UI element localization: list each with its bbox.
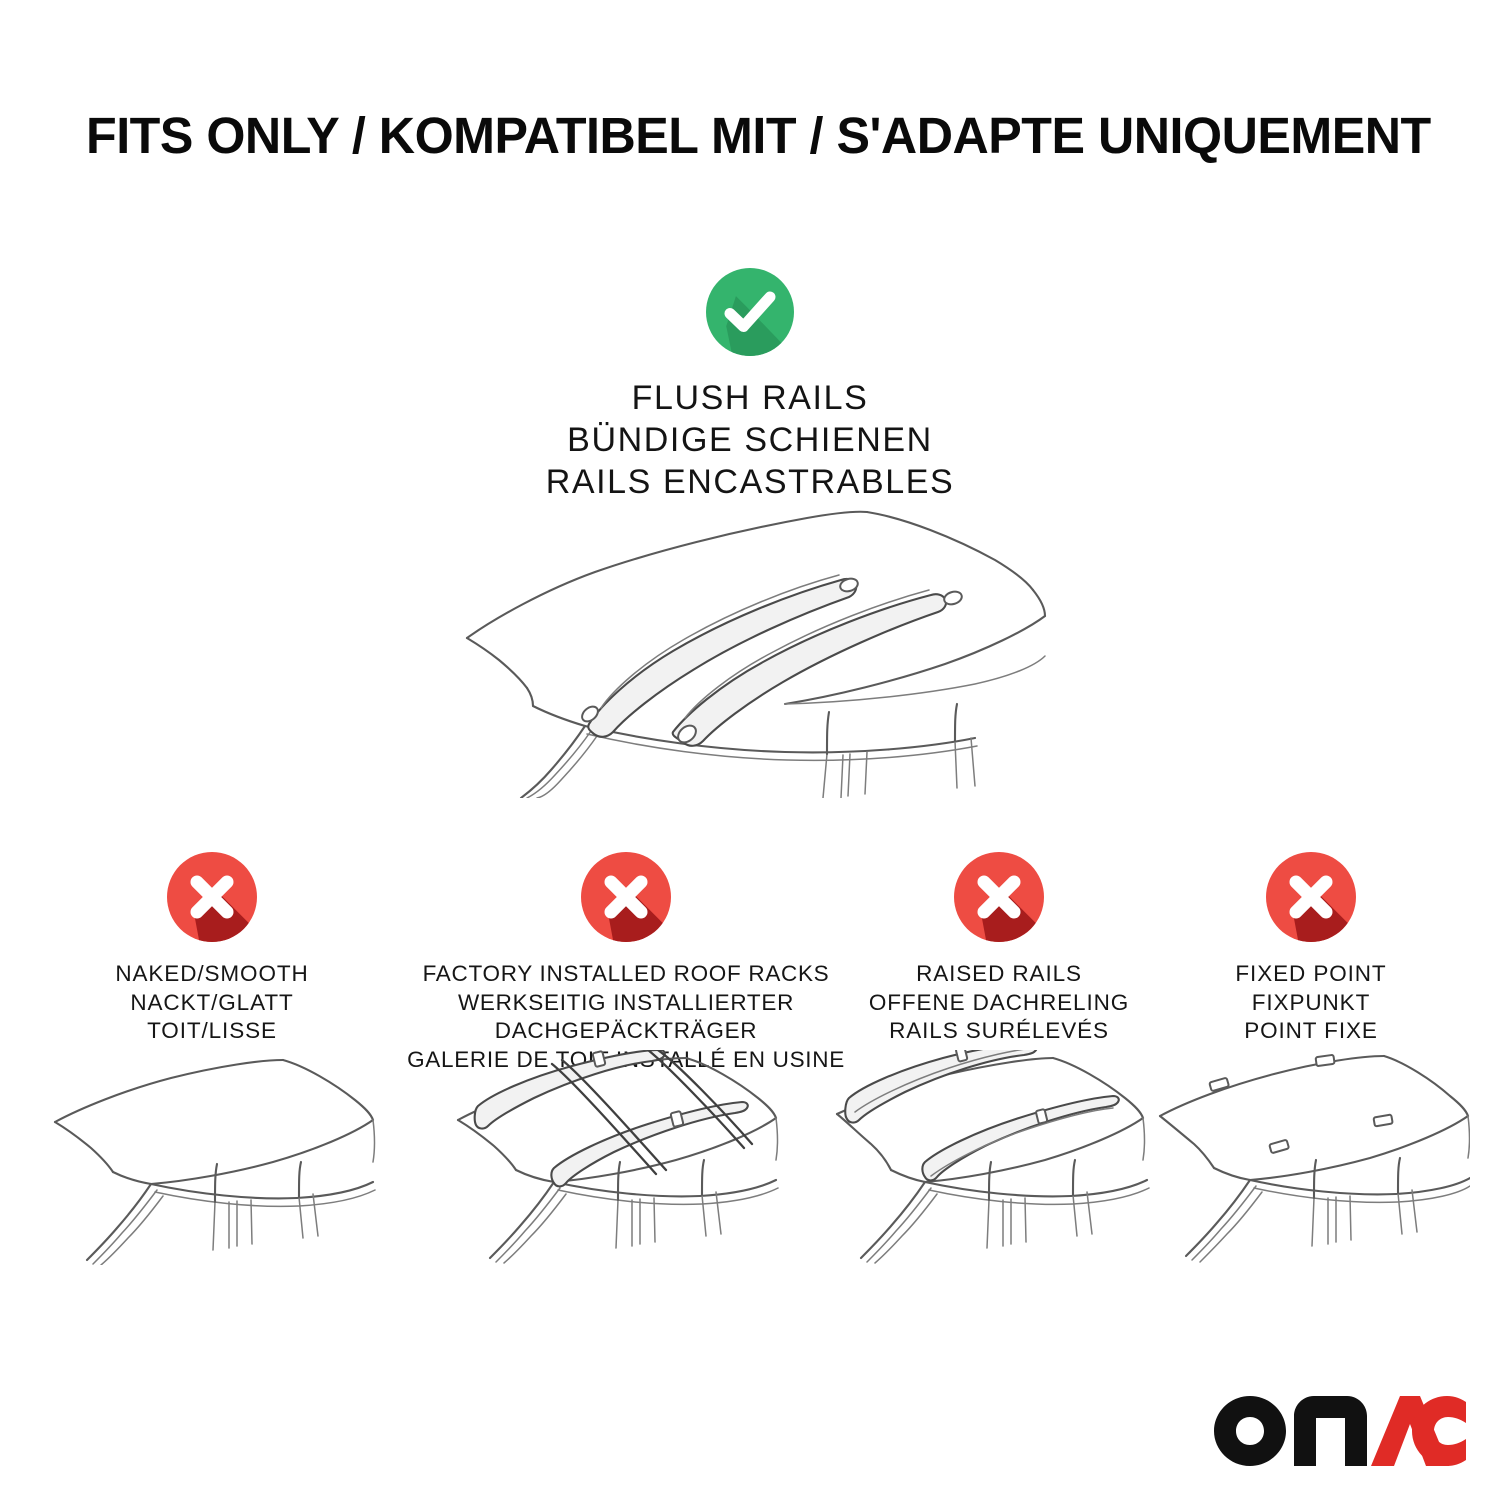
column-label-de-2: DACHGEPÄCKTRÄGER bbox=[400, 1017, 852, 1046]
column-label: RAISED RAILS OFFENE DACHRELING RAILS SUR… bbox=[840, 960, 1158, 1046]
column-label-en: RAISED RAILS bbox=[840, 960, 1158, 989]
logo-ac-red bbox=[1371, 1396, 1466, 1466]
compatible-label-fr: RAILS ENCASTRABLES bbox=[0, 461, 1500, 503]
column-label-fr: RAILS SURÉLEVÉS bbox=[840, 1017, 1158, 1046]
column-label-de: NACKT/GLATT bbox=[52, 989, 372, 1018]
flush-rails-illustration bbox=[455, 498, 1065, 798]
incompatible-column-fixed-point: FIXED POINT FIXPUNKT POINT FIXE bbox=[1160, 852, 1462, 1046]
compatible-label-en: FLUSH RAILS bbox=[0, 377, 1500, 419]
column-label-en: NAKED/SMOOTH bbox=[52, 960, 372, 989]
x-mark-glyph bbox=[581, 852, 671, 942]
compatible-section: FLUSH RAILS BÜNDIGE SCHIENEN RAILS ENCAS… bbox=[0, 268, 1500, 503]
incompatible-column-factory-roof-racks: FACTORY INSTALLED ROOF RACKS WERKSEITIG … bbox=[400, 852, 852, 1074]
x-circle-icon bbox=[167, 852, 257, 942]
page-title: FITS ONLY / KOMPATIBEL MIT / S'ADAPTE UN… bbox=[86, 108, 1406, 164]
x-mark-glyph bbox=[167, 852, 257, 942]
incompatible-column-naked-smooth: NAKED/SMOOTH NACKT/GLATT TOIT/LISSE bbox=[52, 852, 372, 1046]
compatible-labels: FLUSH RAILS BÜNDIGE SCHIENEN RAILS ENCAS… bbox=[0, 377, 1500, 503]
car-roof-factory-roof-racks-illustration bbox=[452, 1050, 800, 1265]
check-mark-glyph bbox=[706, 268, 794, 356]
car-roof-fixed-point-illustration bbox=[1152, 1050, 1470, 1265]
column-label-de: FIXPUNKT bbox=[1160, 989, 1462, 1018]
column-label-fr: POINT FIXE bbox=[1160, 1017, 1462, 1046]
x-circle-icon bbox=[1266, 852, 1356, 942]
incompatible-column-raised-rails: RAISED RAILS OFFENE DACHRELING RAILS SUR… bbox=[840, 852, 1158, 1046]
roof-body bbox=[467, 512, 1045, 798]
flush-rail-right bbox=[673, 590, 946, 746]
column-label-en: FIXED POINT bbox=[1160, 960, 1462, 989]
logo-om-black bbox=[1214, 1396, 1367, 1466]
column-label: FIXED POINT FIXPUNKT POINT FIXE bbox=[1160, 960, 1462, 1046]
compatible-label-de: BÜNDIGE SCHIENEN bbox=[0, 419, 1500, 461]
x-circle-icon bbox=[581, 852, 671, 942]
x-circle-icon bbox=[954, 852, 1044, 942]
column-label-en: FACTORY INSTALLED ROOF RACKS bbox=[400, 960, 852, 989]
omac-logo bbox=[1214, 1392, 1466, 1466]
car-roof-raised-rails-illustration bbox=[825, 1050, 1173, 1265]
column-label-fr: TOIT/LISSE bbox=[52, 1017, 372, 1046]
column-label: NAKED/SMOOTH NACKT/GLATT TOIT/LISSE bbox=[52, 960, 372, 1046]
check-circle-icon bbox=[706, 268, 794, 356]
infographic-page: FITS ONLY / KOMPATIBEL MIT / S'ADAPTE UN… bbox=[0, 0, 1500, 1500]
column-label-de: OFFENE DACHRELING bbox=[840, 989, 1158, 1018]
x-mark-glyph bbox=[954, 852, 1044, 942]
car-roof-naked-smooth-illustration bbox=[47, 1050, 377, 1265]
column-label-de-1: WERKSEITIG INSTALLIERTER bbox=[400, 989, 852, 1018]
incompatible-section: NAKED/SMOOTH NACKT/GLATT TOIT/LISSE bbox=[0, 852, 1500, 1112]
x-mark-glyph bbox=[1266, 852, 1356, 942]
